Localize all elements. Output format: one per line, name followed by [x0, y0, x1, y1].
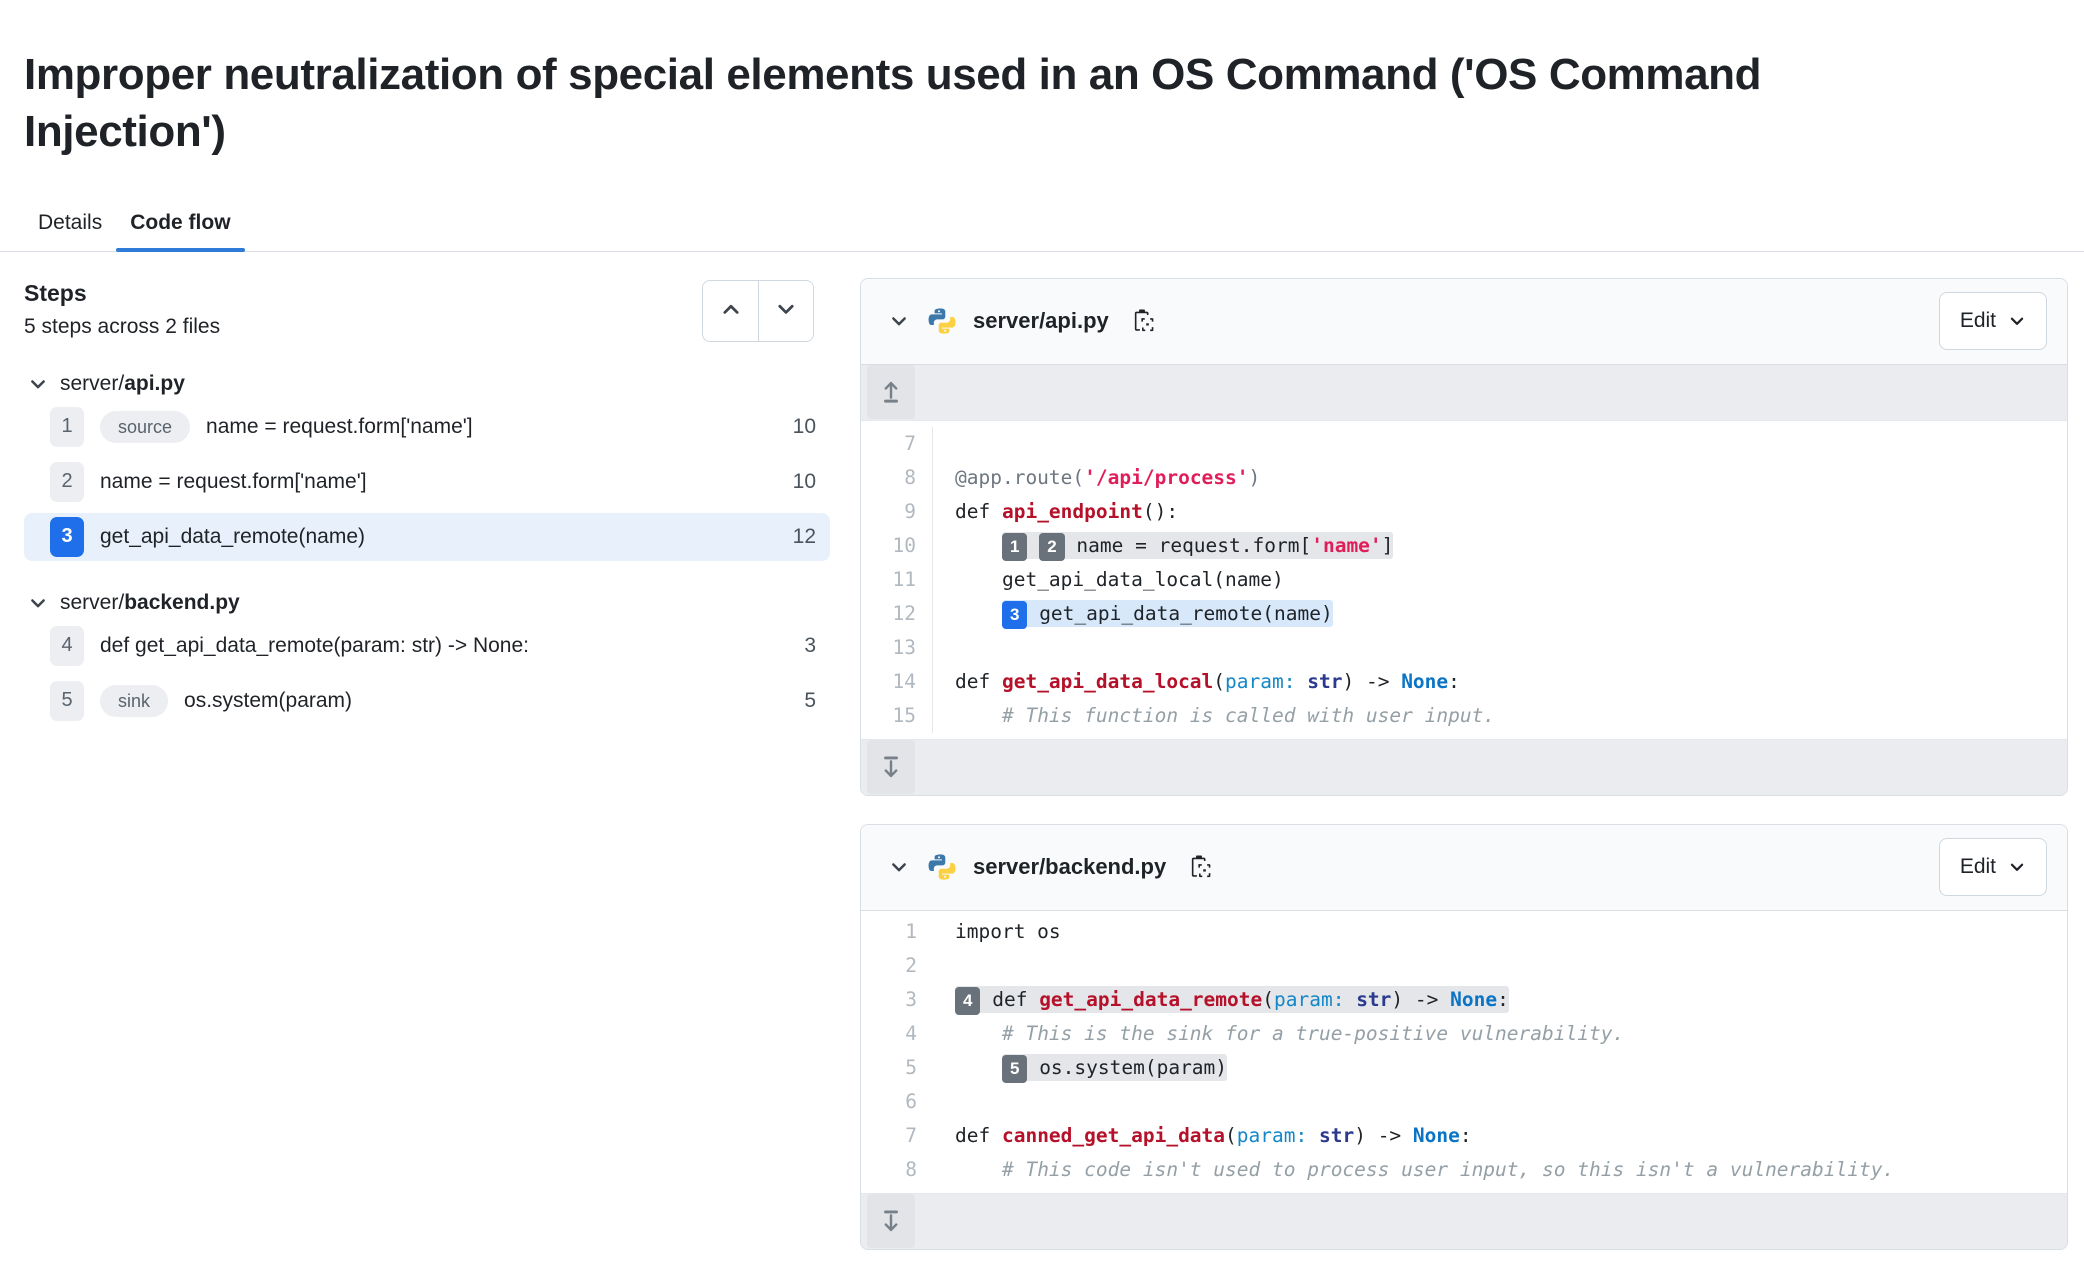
code-line-number: 6 — [861, 1085, 933, 1119]
step-snippet: name = request.form['name'] — [100, 470, 367, 494]
code-panel: server/api.pyEdit78@app.route('/api/proc… — [860, 278, 2068, 796]
code-line-content: 4 def get_api_data_remote(param: str) ->… — [955, 983, 2067, 1017]
code-line-number: 11 — [861, 563, 933, 597]
code-line-number: 5 — [861, 1051, 933, 1085]
code-line-number: 14 — [861, 665, 933, 699]
code-line-content — [955, 949, 2067, 983]
code-line: 6 — [861, 1085, 2067, 1119]
code-line: 2 — [861, 949, 2067, 983]
tab-code-flow[interactable]: Code flow — [116, 211, 244, 251]
step-nav-group — [702, 280, 814, 342]
step-number: 2 — [50, 462, 84, 502]
highlighted-code: 5 os.system(param) — [1002, 1054, 1227, 1081]
code-line-number: 12 — [861, 597, 933, 631]
code-line-content: 5 os.system(param) — [955, 1051, 2067, 1085]
clipboard-copy-icon[interactable] — [1182, 850, 1216, 884]
code-line-content: # This function is called with user inpu… — [955, 699, 2067, 733]
code-line-number: 10 — [861, 529, 933, 563]
arrow-down-to-line-icon[interactable] — [867, 1194, 915, 1248]
code-line: 7 — [861, 427, 2067, 461]
chevron-down-icon[interactable] — [889, 311, 909, 331]
code-panel: server/backend.pyEdit1import os234 def g… — [860, 824, 2068, 1250]
code-line-content: def api_endpoint(): — [955, 495, 2067, 529]
code-line-content: @app.route('/api/process') — [955, 461, 2067, 495]
step-snippet: os.system(param) — [184, 689, 352, 713]
expand-up-row — [861, 365, 2067, 421]
step-line-number: 5 — [784, 689, 816, 713]
python-icon — [927, 852, 957, 882]
code-line-number: 2 — [861, 949, 933, 983]
code-line-content: def canned_get_api_data(param: str) -> N… — [955, 1119, 2067, 1153]
step-marker[interactable]: 1 — [1002, 533, 1027, 561]
step-line-number: 10 — [773, 470, 816, 494]
highlighted-code: 4 def get_api_data_remote(param: str) ->… — [955, 986, 1509, 1013]
code-panel-header: server/backend.pyEdit — [861, 825, 2067, 911]
code-line-number: 4 — [861, 1017, 933, 1051]
code-panels: server/api.pyEdit78@app.route('/api/proc… — [860, 278, 2068, 1250]
step-row[interactable]: 5sinkos.system(param)5 — [24, 677, 830, 725]
step-marker[interactable]: 5 — [1002, 1055, 1027, 1083]
code-panel-column: server/api.pyEdit78@app.route('/api/proc… — [830, 252, 2084, 1276]
chevron-down-icon — [775, 298, 797, 323]
step-kind-badge: sink — [100, 685, 168, 717]
chevron-down-icon — [2008, 858, 2026, 876]
chevron-up-icon — [720, 298, 742, 323]
expand-down-row — [861, 1193, 2067, 1249]
tab-bar: Details Code flow — [0, 190, 2084, 252]
previous-step-button[interactable] — [703, 281, 758, 341]
step-snippet: get_api_data_remote(name) — [100, 525, 365, 549]
step-number: 3 — [50, 517, 84, 557]
code-line-content: get_api_data_local(name) — [955, 563, 2067, 597]
code-line: 15 # This function is called with user i… — [861, 699, 2067, 733]
code-line-content — [955, 631, 2067, 665]
step-row[interactable]: 2name = request.form['name']10 — [24, 458, 830, 506]
code-line-content — [955, 1085, 2067, 1119]
step-kind-badge: source — [100, 411, 190, 443]
step-snippet: def get_api_data_remote(param: str) -> N… — [100, 634, 529, 658]
clipboard-copy-icon[interactable] — [1125, 304, 1159, 338]
code-line: 10 1 2 name = request.form['name'] — [861, 529, 2067, 563]
code-line-content: # This code isn't used to process user i… — [955, 1153, 2067, 1187]
step-row[interactable]: 4def get_api_data_remote(param: str) -> … — [24, 622, 830, 670]
step-marker[interactable]: 4 — [955, 987, 980, 1015]
steps-header: Steps 5 steps across 2 files — [24, 280, 830, 342]
code-body: 78@app.route('/api/process')9def api_end… — [861, 421, 2067, 739]
step-file-name: server/backend.py — [60, 591, 240, 615]
code-line-number: 7 — [861, 427, 933, 461]
steps-panel: Steps 5 steps across 2 files — [0, 252, 830, 725]
python-icon — [927, 306, 957, 336]
step-snippet: name = request.form['name'] — [206, 415, 473, 439]
code-line-content: import os — [955, 915, 2067, 949]
arrow-up-to-line-icon[interactable] — [867, 365, 915, 419]
code-line-content: # This is the sink for a true-positive v… — [955, 1017, 2067, 1051]
code-line-number: 9 — [861, 495, 933, 529]
body-columns: Steps 5 steps across 2 files — [0, 252, 2084, 1276]
step-file-group-toggle[interactable]: server/api.py — [24, 372, 830, 396]
edit-button[interactable]: Edit — [1939, 292, 2047, 350]
code-body: 1import os234 def get_api_data_remote(pa… — [861, 911, 2067, 1193]
expand-down-row — [861, 739, 2067, 795]
code-line: 8 # This code isn't used to process user… — [861, 1153, 2067, 1187]
code-line-number: 1 — [861, 915, 933, 949]
steps-title: Steps — [24, 280, 220, 308]
code-line: 9def api_endpoint(): — [861, 495, 2067, 529]
steps-subtitle: 5 steps across 2 files — [24, 315, 220, 339]
step-number: 4 — [50, 626, 84, 666]
code-line-number: 8 — [861, 461, 933, 495]
tab-details[interactable]: Details — [24, 211, 116, 251]
chevron-down-icon — [28, 374, 48, 394]
step-file-group-toggle[interactable]: server/backend.py — [24, 591, 830, 615]
step-file-name: server/api.py — [60, 372, 185, 396]
next-step-button[interactable] — [758, 281, 813, 341]
code-line-number: 13 — [861, 631, 933, 665]
code-line: 5 5 os.system(param) — [861, 1051, 2067, 1085]
code-line: 8@app.route('/api/process') — [861, 461, 2067, 495]
code-line: 11 get_api_data_local(name) — [861, 563, 2067, 597]
step-marker[interactable]: 3 — [1002, 601, 1027, 629]
step-line-number: 10 — [773, 415, 816, 439]
chevron-down-icon[interactable] — [889, 857, 909, 877]
code-line-content — [955, 427, 2067, 461]
code-line: 12 3 get_api_data_remote(name) — [861, 597, 2067, 631]
code-line-number: 7 — [861, 1119, 933, 1153]
code-line: 4 # This is the sink for a true-positive… — [861, 1017, 2067, 1051]
code-line-content: 3 get_api_data_remote(name) — [955, 597, 2067, 631]
code-panel-header: server/api.pyEdit — [861, 279, 2067, 365]
steps-heading-block: Steps 5 steps across 2 files — [24, 280, 220, 340]
code-line-number: 3 — [861, 983, 933, 1017]
code-line-content: def get_api_data_local(param: str) -> No… — [955, 665, 2067, 699]
code-line: 14def get_api_data_local(param: str) -> … — [861, 665, 2067, 699]
code-line: 1import os — [861, 915, 2067, 949]
highlighted-code: 1 2 name = request.form['name'] — [1002, 532, 1393, 559]
chevron-down-icon — [28, 593, 48, 613]
step-line-number: 12 — [773, 525, 816, 549]
code-line: 7def canned_get_api_data(param: str) -> … — [861, 1119, 2067, 1153]
highlighted-code: 3 get_api_data_remote(name) — [1002, 600, 1333, 627]
code-line-number: 8 — [861, 1153, 933, 1187]
code-line: 34 def get_api_data_remote(param: str) -… — [861, 983, 2067, 1017]
arrow-down-to-line-icon[interactable] — [867, 740, 915, 794]
page-title: Improper neutralization of special eleme… — [0, 29, 1990, 160]
code-flow-page: Improper neutralization of special eleme… — [0, 29, 2084, 1276]
step-number: 1 — [50, 407, 84, 447]
step-line-number: 3 — [784, 634, 816, 658]
edit-button[interactable]: Edit — [1939, 838, 2047, 896]
step-file-group: server/api.py1sourcename = request.form[… — [24, 372, 830, 561]
code-line-number: 15 — [861, 699, 933, 733]
step-file-group: server/backend.py4def get_api_data_remot… — [24, 591, 830, 725]
step-row[interactable]: 1sourcename = request.form['name']10 — [24, 403, 830, 451]
edit-button-label: Edit — [1960, 309, 1996, 333]
step-number: 5 — [50, 681, 84, 721]
step-marker[interactable]: 2 — [1039, 533, 1064, 561]
code-line: 13 — [861, 631, 2067, 665]
code-panel-file-name: server/backend.py — [973, 854, 1166, 880]
step-group-list: server/api.py1sourcename = request.form[… — [24, 372, 830, 725]
step-row-selected[interactable]: 3get_api_data_remote(name)12 — [24, 513, 830, 561]
chevron-down-icon — [2008, 312, 2026, 330]
code-line-content: 1 2 name = request.form['name'] — [955, 529, 2067, 563]
code-panel-file-name: server/api.py — [973, 308, 1109, 334]
edit-button-label: Edit — [1960, 855, 1996, 879]
